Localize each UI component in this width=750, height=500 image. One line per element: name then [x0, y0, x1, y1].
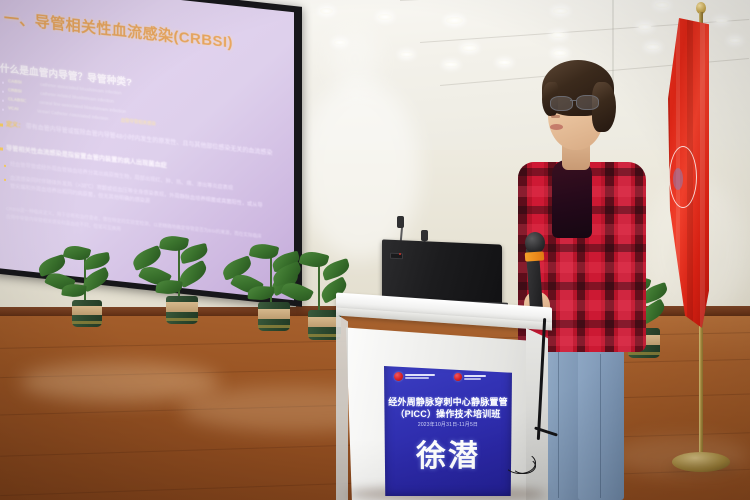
glasses-lens-right [576, 95, 599, 110]
sign-logo-primary [394, 372, 435, 381]
sign-speaker-name: 徐潜 [384, 440, 512, 475]
sign-date: 2023年10月31日-11月5日 [384, 421, 512, 428]
definition-label: 定义： [6, 122, 24, 130]
laptop-logo-dot [399, 253, 401, 255]
photo-scene: 一、导管相关性血流感染(CRBSI) 什么是血管内导管？导管种类? CABSI … [0, 0, 750, 500]
glasses-bridge [570, 100, 577, 101]
microphone-ring [525, 251, 545, 261]
laptop-brand-logo [390, 253, 403, 260]
acronym-code: CABSI [8, 78, 22, 84]
acronym-code: CLABSI： [8, 96, 29, 103]
slide-title: 一、导管相关性血流感染(CRBSI) [4, 7, 233, 53]
acronym-cn: 血管导管相关感染 [121, 117, 156, 126]
podium-display-sign: 经外周静脉穿刺中心静脉置管 （PICC）操作技术培训班 2023年10月31日-… [384, 362, 512, 496]
speaker-inner-top [552, 160, 592, 238]
acronym-code: CRBSI [8, 87, 22, 93]
sign-title-line2: （PICC）操作技术培训班 [384, 407, 512, 420]
podium-left-side [336, 314, 348, 500]
gooseneck-mic-capsule [397, 216, 404, 228]
hospital-emblem-icon [394, 372, 403, 381]
glasses-lens-left [550, 96, 573, 111]
acronym-code: VCAI [8, 105, 19, 111]
sponsor-emblem-icon [454, 373, 462, 381]
sign-logo-secondary [454, 373, 486, 381]
